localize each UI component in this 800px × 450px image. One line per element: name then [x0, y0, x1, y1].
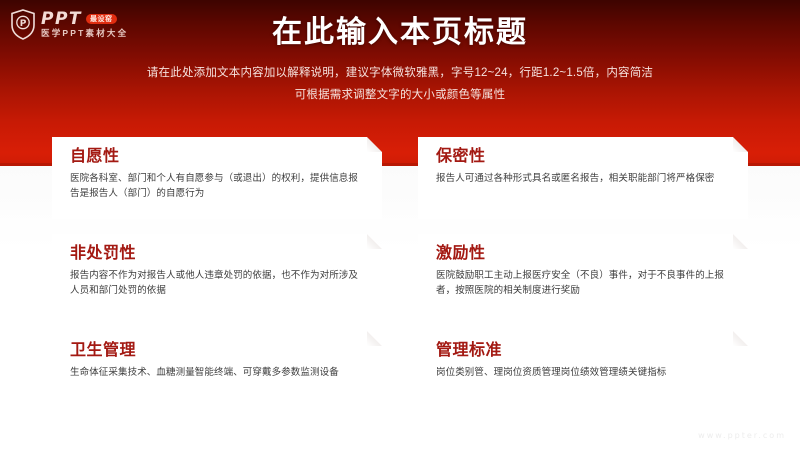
page-subtitle: 请在此处添加文本内容加以解释说明，建议字体微软雅黑，字号12~24，行距1.2~… [60, 62, 740, 107]
subtitle-line-1: 请在此处添加文本内容加以解释说明，建议字体微软雅黑，字号12~24，行距1.2~… [60, 62, 740, 84]
slide-canvas: P PPT 最设窑 医学PPT素材大全 在此输入本页标题 请在此处添加文本内容加… [0, 0, 800, 450]
card-body: 报告内容不作为对报告人或他人违章处罚的依据，也不作为对所涉及人员和部门处罚的依据 [70, 268, 366, 299]
card-title: 卫生管理 [70, 340, 366, 362]
content-card[interactable]: 保密性 报告人可通过各种形式具名或匿名报告，相关职能部门将严格保密 [418, 137, 748, 219]
folded-corner-icon [367, 137, 382, 152]
content-card[interactable]: 卫生管理 生命体征采集技术、血糖测量智能终端、可穿戴多参数监测设备 [52, 331, 382, 413]
site-watermark: www.ppter.com [698, 431, 786, 440]
card-body: 报告人可通过各种形式具名或匿名报告，相关职能部门将严格保密 [436, 171, 732, 187]
subtitle-line-2: 可根据需求调整文字的大小或颜色等属性 [60, 84, 740, 106]
card-body: 医院鼓励职工主动上报医疗安全（不良）事件，对于不良事件的上报者，按照医院的相关制… [436, 268, 732, 299]
card-title: 非处罚性 [70, 243, 366, 265]
card-title: 管理标准 [436, 340, 732, 362]
page-title: 在此输入本页标题 [0, 14, 800, 52]
card-body: 医院各科室、部门和个人有自愿参与（或退出）的权利，提供信息报告是报告人（部门）的… [70, 171, 366, 202]
content-card[interactable]: 激励性 医院鼓励职工主动上报医疗安全（不良）事件，对于不良事件的上报者，按照医院… [418, 234, 748, 316]
content-card[interactable]: 自愿性 医院各科室、部门和个人有自愿参与（或退出）的权利，提供信息报告是报告人（… [52, 137, 382, 219]
folded-corner-icon [733, 137, 748, 152]
card-body: 岗位类别管、理岗位资质管理岗位绩效管理绩关键指标 [436, 365, 732, 381]
folded-corner-icon [733, 331, 748, 346]
folded-corner-icon [367, 234, 382, 249]
folded-corner-icon [733, 234, 748, 249]
card-body: 生命体征采集技术、血糖测量智能终端、可穿戴多参数监测设备 [70, 365, 366, 381]
card-title: 激励性 [436, 243, 732, 265]
card-title: 保密性 [436, 146, 732, 168]
content-card[interactable]: 非处罚性 报告内容不作为对报告人或他人违章处罚的依据，也不作为对所涉及人员和部门… [52, 234, 382, 316]
card-title: 自愿性 [70, 146, 366, 168]
cards-grid: 自愿性 医院各科室、部门和个人有自愿参与（或退出）的权利，提供信息报告是报告人（… [52, 137, 748, 413]
content-card[interactable]: 管理标准 岗位类别管、理岗位资质管理岗位绩效管理绩关键指标 [418, 331, 748, 413]
folded-corner-icon [367, 331, 382, 346]
